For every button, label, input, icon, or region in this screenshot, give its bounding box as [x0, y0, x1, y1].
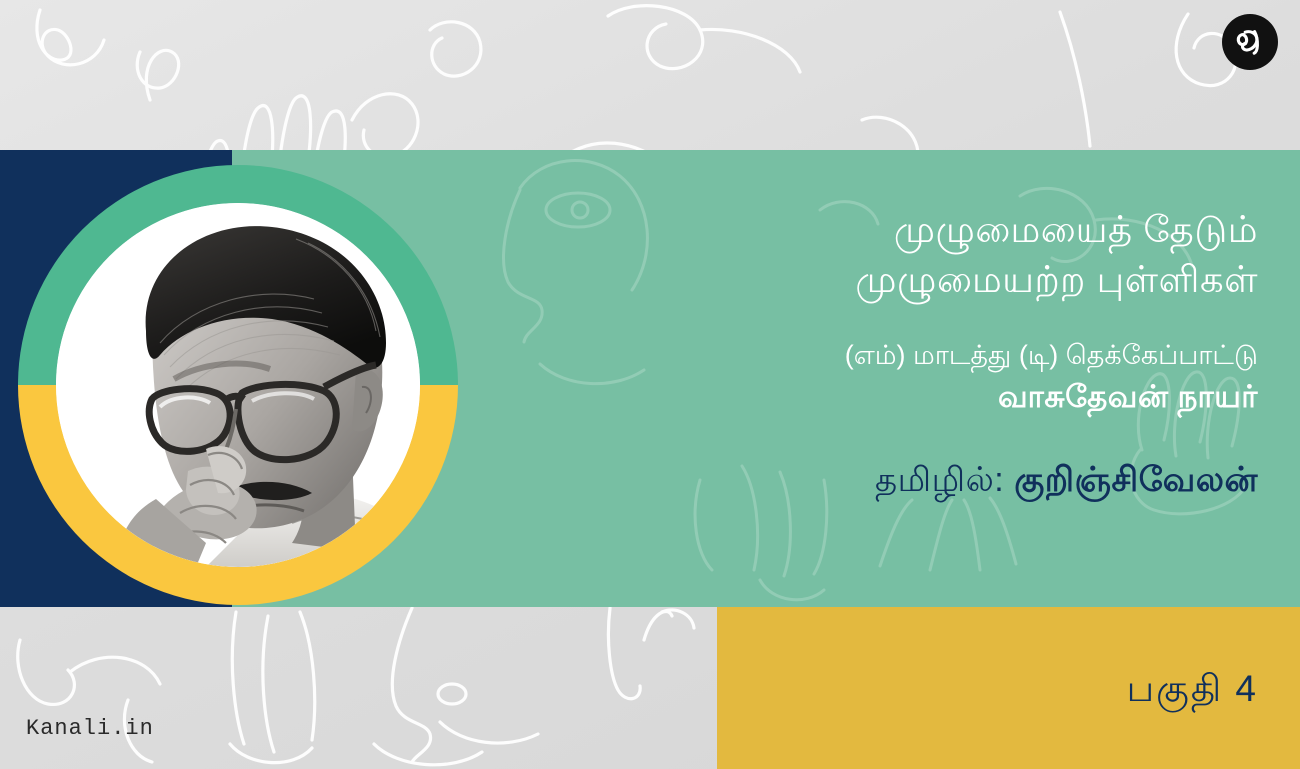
translator-label: தமிழில்:: [875, 461, 1004, 499]
tamil-letter-a-logo-icon[interactable]: [1222, 14, 1278, 70]
translator-name: குறிஞ்சிவேலன்: [1014, 461, 1258, 499]
part-number-block: பகுதி 4: [717, 607, 1300, 769]
author-name-prefix: (எம்) மாடத்து (டி) தெக்கேப்பாட்டு: [638, 336, 1258, 375]
page-title: முழுமையைத் தேடும் முழுமையற்ற புள்ளிகள்: [638, 205, 1258, 306]
book-title-line-2: முழுமையற்ற புள்ளிகள்: [638, 255, 1258, 305]
author-credit: (எம்) மாடத்து (டி) தெக்கேப்பாட்டு வாசுதே…: [638, 336, 1258, 420]
site-watermark: Kanali.in: [26, 716, 154, 741]
logo-glyph: [1230, 22, 1270, 62]
book-title-line-1: முழுமையைத் தேடும்: [638, 205, 1258, 255]
author-name: வாசுதேவன் நாயர்: [638, 375, 1258, 420]
part-label: பகுதி 4: [1127, 670, 1258, 707]
poster-text-block: முழுமையைத் தேடும் முழுமையற்ற புள்ளிகள் (…: [638, 205, 1258, 502]
author-portrait: [18, 165, 458, 605]
author-portrait-photo: [56, 203, 420, 567]
translator-credit: தமிழில்: குறிஞ்சிவேலன்: [638, 458, 1258, 502]
portrait-illustration: [56, 203, 420, 567]
